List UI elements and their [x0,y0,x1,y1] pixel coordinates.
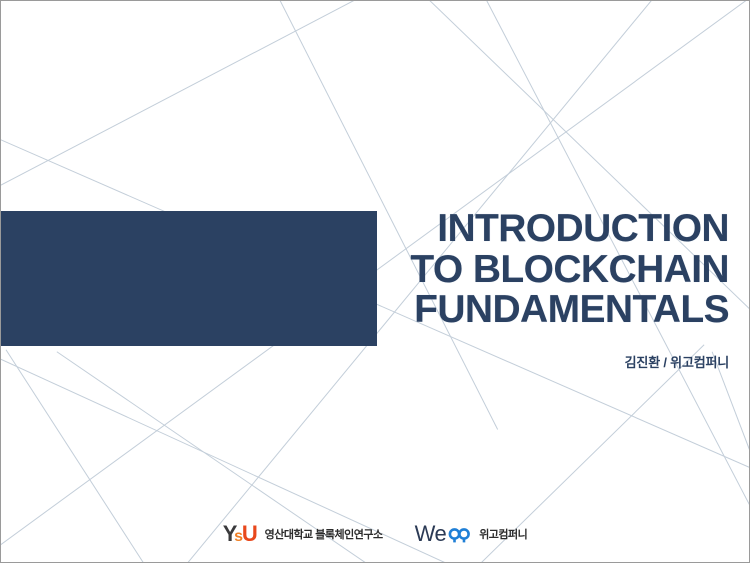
title-line-2: TO BLOCKCHAIN [369,250,729,291]
wego-go-glyph-icon [447,524,471,544]
wego-logo-icon: We [415,523,472,545]
title-line-1: INTRODUCTION [369,209,729,250]
footer-logo-bar: YsU 영산대학교 블록체인연구소 We 위고컴퍼니 [1,523,749,545]
ysu-logo-group: YsU 영산대학교 블록체인연구소 [223,523,383,545]
ysu-logo-icon: YsU [223,523,257,545]
ysu-letter-u: U [242,523,257,545]
wego-logo-caption: 위고컴퍼니 [479,526,527,542]
presentation-title-slide: INTRODUCTION TO BLOCKCHAIN FUNDAMENTALS … [0,0,750,563]
wego-logo-group: We 위고컴퍼니 [415,523,528,545]
page-title: INTRODUCTION TO BLOCKCHAIN FUNDAMENTALS [369,209,729,331]
ysu-logo-caption: 영산대학교 블록체인연구소 [265,526,383,542]
author-subtitle: 김진환 / 위고컴퍼니 [625,352,729,371]
ysu-letter-s: s [234,529,242,545]
navy-accent-block [1,211,377,346]
title-line-3: FUNDAMENTALS [369,290,729,331]
bg-line-2 [1,1,372,190]
wego-letters-we: We [415,523,447,545]
